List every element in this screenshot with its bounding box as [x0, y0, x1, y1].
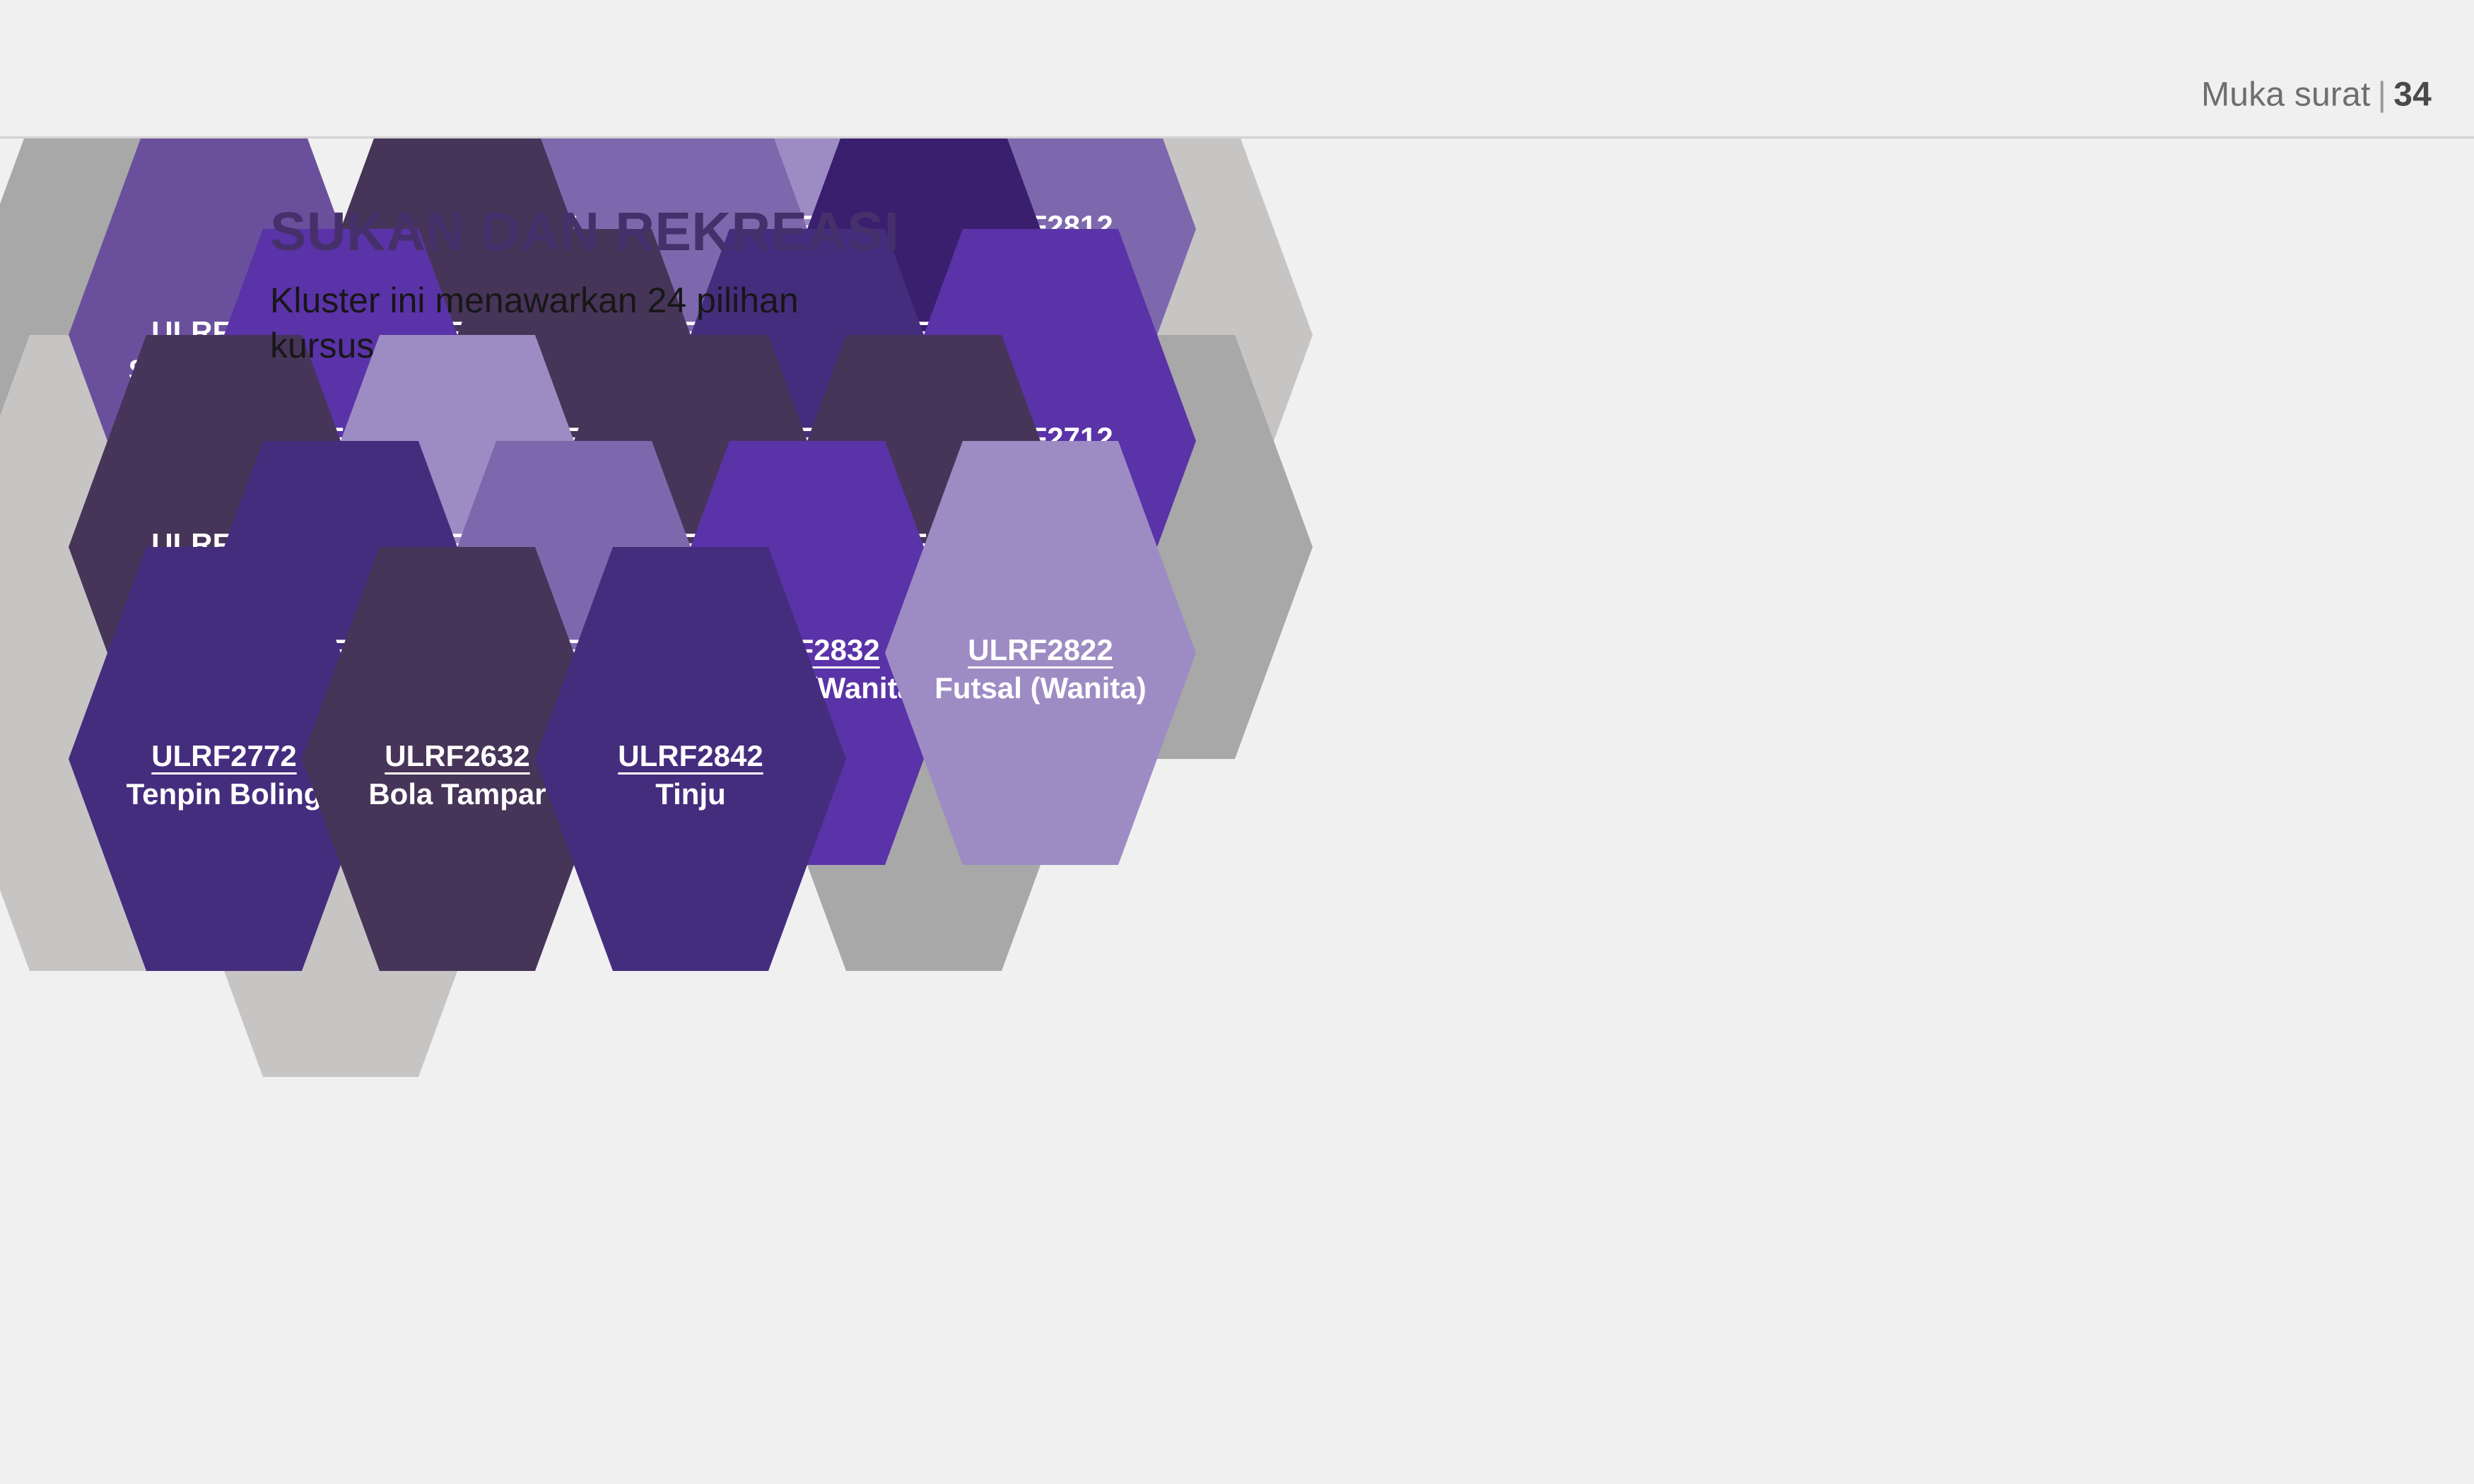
page-header-bar: Muka surat|34 [0, 0, 2474, 139]
course-name: Tenpin Boling [107, 777, 341, 812]
page-subtitle: Kluster ini menawarkan 24 pilihan kursus [270, 278, 906, 368]
page-separator: | [2378, 76, 2387, 114]
course-code[interactable]: ULRF2772 [151, 739, 296, 772]
page-number: 34 [2393, 76, 2432, 114]
course-name: Tinju [573, 777, 808, 812]
title-block: SUKAN DAN REKREASI Kluster ini menawarka… [270, 205, 906, 368]
course-code[interactable]: ULRF2822 [968, 633, 1113, 666]
course-name: Futsal (Wanita) [923, 671, 1158, 706]
page-title: SUKAN DAN REKREASI [270, 205, 906, 259]
page-indicator: Muka surat|34 [2201, 76, 2432, 114]
course-code[interactable]: ULRF2842 [618, 739, 763, 772]
page-label: Muka surat [2201, 76, 2370, 114]
course-code[interactable]: ULRF2632 [385, 739, 529, 772]
course-name: Bola Tampar [340, 777, 575, 812]
